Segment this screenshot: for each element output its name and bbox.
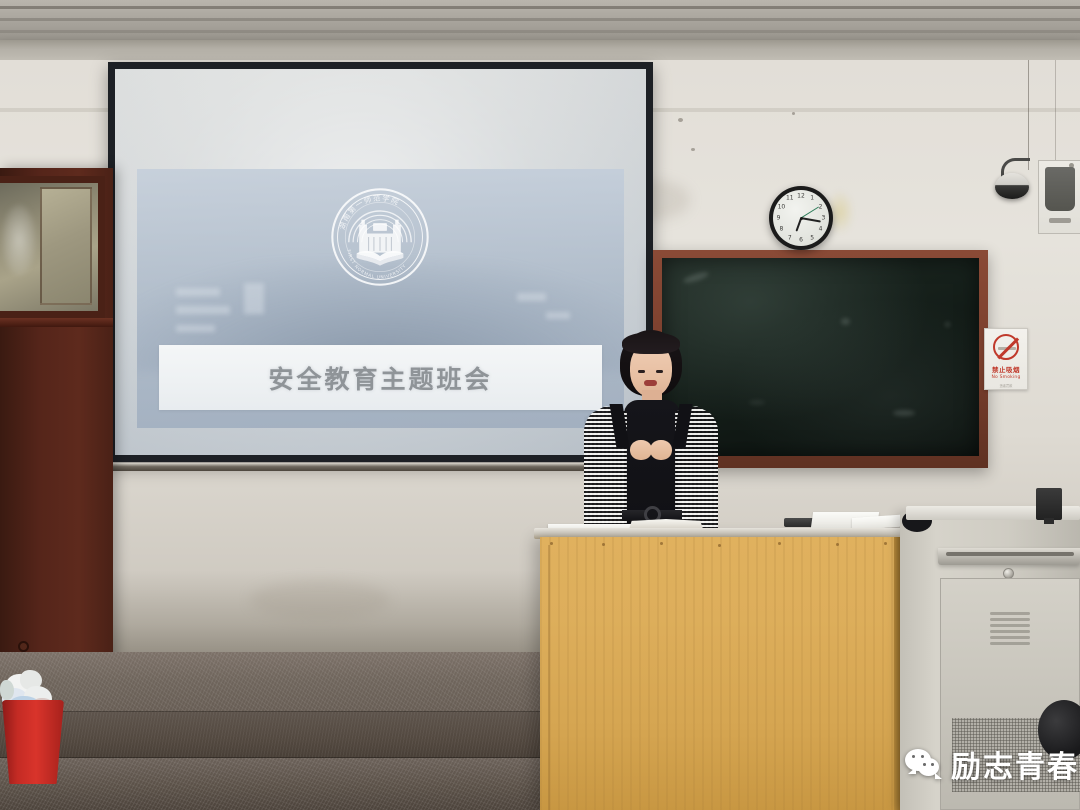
speaker-slot bbox=[1049, 218, 1071, 223]
wooden-lectern[interactable] bbox=[540, 537, 900, 810]
no-smoking-sign: 禁止吸烟 No Smoking 违者罚款 bbox=[984, 328, 1028, 390]
clock-numeral: 7 bbox=[788, 234, 792, 241]
clock-numeral: 10 bbox=[778, 203, 786, 210]
door-handle[interactable] bbox=[18, 641, 29, 652]
clock-numeral: 4 bbox=[819, 226, 823, 233]
no-smoking-cn: 禁止吸烟 bbox=[992, 364, 1020, 374]
no-smoking-en: No Smoking bbox=[991, 375, 1020, 380]
wall-mark bbox=[792, 112, 795, 115]
no-smoking-icon bbox=[993, 334, 1019, 360]
slide-title-band: 安全教育主题班会 bbox=[159, 345, 602, 410]
classroom-door[interactable] bbox=[0, 168, 113, 660]
monitor-stand bbox=[1044, 518, 1054, 524]
classroom-photo-scene: 湖南第一师范学院 FIRST NORMAL UNIVERSITY 安全教育主题班… bbox=[0, 0, 1080, 810]
projection-screen-surface: 湖南第一师范学院 FIRST NORMAL UNIVERSITY 安全教育主题班… bbox=[115, 69, 646, 455]
clock-numeral: 3 bbox=[821, 215, 825, 222]
screen-weight-bar bbox=[104, 463, 659, 471]
cabinet-vent bbox=[990, 612, 1030, 658]
clock-center-pin bbox=[800, 217, 803, 220]
lectern-studs bbox=[540, 542, 900, 550]
wechat-icon bbox=[905, 749, 943, 779]
clock-numeral: 8 bbox=[779, 226, 783, 233]
clock-face: 12 1 2 3 4 5 6 7 8 9 10 11 bbox=[773, 190, 829, 246]
speaker-grille bbox=[1045, 167, 1075, 211]
wall-mark bbox=[678, 118, 683, 122]
wall-mark bbox=[691, 148, 695, 151]
keyboard-tray[interactable] bbox=[938, 548, 1080, 565]
door-rail bbox=[0, 318, 113, 327]
wall-clock: 12 1 2 3 4 5 6 7 8 9 10 11 bbox=[769, 186, 833, 250]
presenter bbox=[578, 330, 724, 545]
clock-numeral: 9 bbox=[777, 215, 781, 222]
presenter-left-hand bbox=[630, 440, 652, 460]
clock-numeral: 11 bbox=[786, 195, 794, 202]
clock-numeral: 5 bbox=[810, 234, 814, 241]
presentation-slide: 湖南第一师范学院 FIRST NORMAL UNIVERSITY 安全教育主题班… bbox=[137, 169, 623, 428]
projection-screen[interactable]: 湖南第一师范学院 FIRST NORMAL UNIVERSITY 安全教育主题班… bbox=[108, 62, 653, 462]
speaker-wire bbox=[1055, 60, 1056, 160]
wall-speaker-panel bbox=[1038, 160, 1080, 234]
university-seal-emblem: 湖南第一师范学院 FIRST NORMAL UNIVERSITY bbox=[328, 185, 432, 289]
door-glass-reflection bbox=[2, 205, 36, 275]
no-smoking-footnote: 违者罚款 bbox=[1000, 383, 1013, 388]
watermark-text: 励志青春 bbox=[951, 742, 1079, 786]
clock-minute-hand bbox=[801, 217, 821, 222]
presenter-right-hand bbox=[650, 440, 672, 460]
presenter-mouth bbox=[644, 380, 657, 386]
monitor-rear bbox=[1036, 488, 1062, 520]
clock-numeral: 1 bbox=[810, 195, 814, 202]
clock-hour-hand bbox=[795, 218, 802, 232]
presenter-fringe bbox=[622, 332, 680, 354]
wechat-watermark: 励志青春 bbox=[905, 742, 1079, 786]
door-glass-inner-pane bbox=[40, 187, 92, 305]
clock-numeral: 12 bbox=[797, 192, 805, 199]
keyboard-tray-slot bbox=[946, 552, 1074, 556]
door-glass-panel bbox=[0, 176, 105, 318]
clock-second-hand bbox=[801, 206, 819, 218]
red-trash-bin[interactable] bbox=[2, 700, 64, 784]
lectern-seam bbox=[548, 545, 550, 810]
clock-numeral: 6 bbox=[799, 237, 803, 244]
remote-control[interactable] bbox=[784, 518, 814, 527]
slide-title: 安全教育主题班会 bbox=[268, 360, 492, 396]
dome-camera-icon bbox=[995, 173, 1029, 199]
camera-wire bbox=[1028, 60, 1029, 170]
